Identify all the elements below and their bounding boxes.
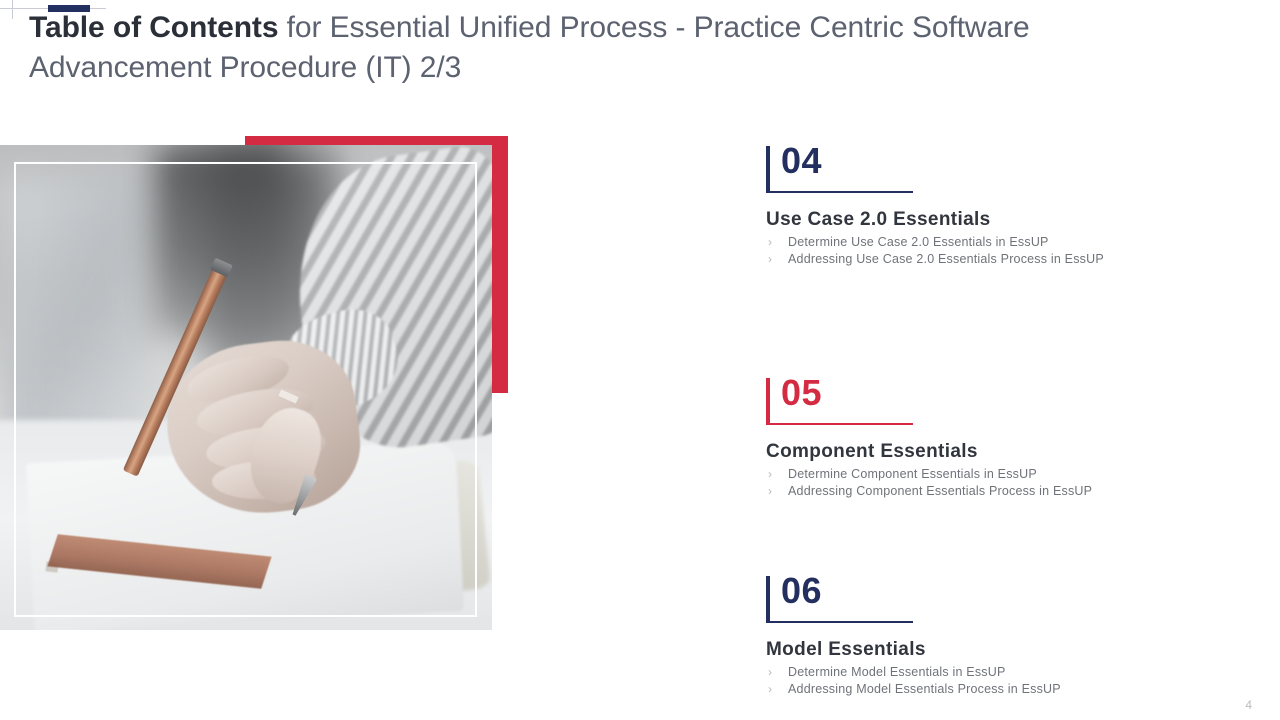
decorative-vertical-rule — [12, 0, 13, 19]
toc-bullet-text: Determine Model Essentials in EssUP — [788, 665, 1006, 679]
toc-bullet: ›Addressing Model Essentials Process in … — [766, 681, 1226, 698]
chevron-right-icon: › — [768, 234, 772, 251]
toc-bullet-text: Determine Use Case 2.0 Essentials in Ess… — [788, 235, 1049, 249]
toc-number-row: 05 — [766, 378, 1226, 424]
photo-writing-hand — [0, 145, 492, 630]
chevron-right-icon: › — [768, 664, 772, 681]
slide-title-strong: Table of Contents — [29, 11, 278, 44]
toc-number: 04 — [781, 140, 822, 182]
toc-number: 05 — [781, 372, 822, 414]
toc-number-accent-bar — [766, 146, 770, 192]
toc-entry-title: Use Case 2.0 Essentials — [766, 209, 1226, 231]
chevron-right-icon: › — [768, 466, 772, 483]
toc-bullet-text: Addressing Component Essentials Process … — [788, 484, 1092, 498]
chevron-right-icon: › — [768, 251, 772, 268]
chevron-right-icon: › — [768, 483, 772, 500]
toc-bullet-list: ›Determine Component Essentials in EssUP… — [766, 466, 1226, 500]
table-of-contents-list: 04 Use Case 2.0 Essentials ›Determine Us… — [766, 146, 1226, 698]
toc-number-underline — [766, 423, 913, 425]
page-number: 4 — [1245, 698, 1252, 712]
toc-entry-title: Model Essentials — [766, 639, 1226, 661]
page-title: Table of Contents for Essential Unified … — [29, 8, 1189, 87]
toc-bullet: ›Addressing Component Essentials Process… — [766, 483, 1226, 500]
toc-number-row: 06 — [766, 576, 1226, 622]
toc-entry-title: Component Essentials — [766, 441, 1226, 463]
toc-bullet-list: ›Determine Model Essentials in EssUP ›Ad… — [766, 664, 1226, 698]
toc-bullet: ›Determine Use Case 2.0 Essentials in Es… — [766, 234, 1226, 251]
toc-bullet-list: ›Determine Use Case 2.0 Essentials in Es… — [766, 234, 1226, 268]
image-composition — [0, 120, 560, 640]
toc-entry-05[interactable]: 05 Component Essentials ›Determine Compo… — [766, 378, 1226, 500]
toc-bullet-text: Determine Component Essentials in EssUP — [788, 467, 1037, 481]
toc-number-row: 04 — [766, 146, 1226, 192]
slide-title-line: Table of Contents for Essential Unified … — [29, 8, 1189, 87]
chevron-right-icon: › — [768, 681, 772, 698]
toc-bullet-text: Addressing Model Essentials Process in E… — [788, 682, 1061, 696]
toc-number-accent-bar — [766, 378, 770, 424]
toc-bullet: ›Determine Model Essentials in EssUP — [766, 664, 1226, 681]
toc-bullet: ›Determine Component Essentials in EssUP — [766, 466, 1226, 483]
toc-number-underline — [766, 191, 913, 193]
toc-entry-04[interactable]: 04 Use Case 2.0 Essentials ›Determine Us… — [766, 146, 1226, 268]
toc-bullet-text: Addressing Use Case 2.0 Essentials Proce… — [788, 252, 1104, 266]
slide-canvas: Table of Contents for Essential Unified … — [0, 0, 1280, 720]
toc-entry-06[interactable]: 06 Model Essentials ›Determine Model Ess… — [766, 576, 1226, 698]
toc-number: 06 — [781, 570, 822, 612]
toc-number-accent-bar — [766, 576, 770, 622]
toc-bullet: ›Addressing Use Case 2.0 Essentials Proc… — [766, 251, 1226, 268]
toc-number-underline — [766, 621, 913, 623]
